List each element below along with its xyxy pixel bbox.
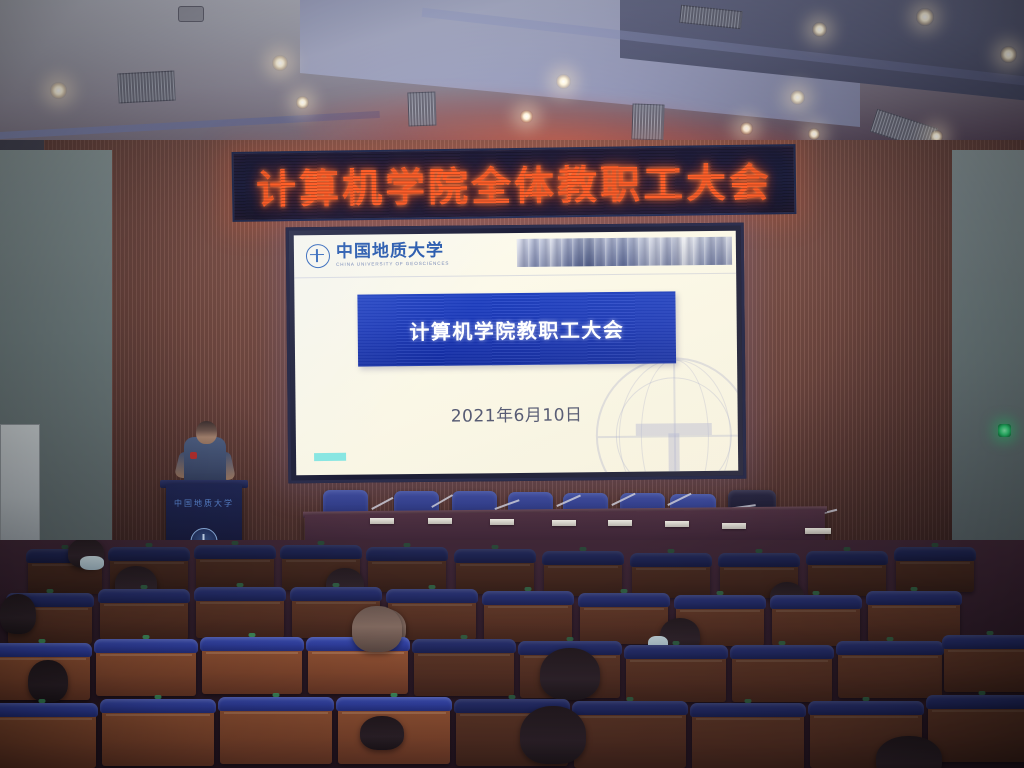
- seat-cushion-top: [630, 553, 712, 567]
- led-banner-text: 计算机学院全体教职工大会: [256, 150, 773, 215]
- podium-label: 中国地质大学: [166, 498, 242, 509]
- seat-rail: [578, 716, 682, 718]
- speaker-head: [196, 421, 217, 444]
- ceiling-speaker: [178, 6, 204, 22]
- seat-cushion-top: [336, 697, 452, 711]
- seat-cushion-top: [942, 635, 1024, 649]
- seat-cushion-top: [200, 637, 304, 651]
- seat-cushion-top: [280, 545, 362, 559]
- hvac-vent: [117, 71, 175, 104]
- seat: [692, 712, 804, 768]
- seat-cushion-top: [572, 701, 688, 715]
- seat: [484, 600, 572, 642]
- seat-cushion-top: [730, 645, 834, 659]
- seat-cushion-top: [482, 591, 574, 605]
- seat-rail: [696, 718, 800, 720]
- seat-cushion-top: [290, 587, 382, 601]
- seat: [220, 706, 332, 764]
- seat-rail: [736, 660, 828, 662]
- seat-cushion-top: [412, 639, 516, 653]
- seat-rail: [312, 652, 404, 654]
- seat: [96, 648, 196, 696]
- attendee-face-mask: [80, 556, 104, 570]
- seat: [896, 556, 974, 592]
- seat-cushion-top: [0, 703, 98, 717]
- slide-title-box: 计算机学院教职工大会: [357, 291, 676, 366]
- name-placard: [490, 519, 514, 525]
- seat: [102, 708, 214, 766]
- ceiling-downlight: [812, 22, 827, 37]
- campus-photo-strip: [517, 237, 732, 267]
- seat-rail: [200, 560, 270, 562]
- seat-cushion-top: [808, 701, 924, 715]
- ceiling-downlight: [790, 90, 805, 105]
- seat-cushion-top: [100, 699, 216, 713]
- seat-cushion-top: [194, 587, 286, 601]
- slide-header: 中国地质大学 CHINA UNIVERSITY OF GEOSCIENCES: [294, 231, 736, 279]
- seat-rail: [418, 654, 510, 656]
- slide-accent-chip: [314, 453, 346, 461]
- seat-cushion-top: [690, 703, 806, 717]
- seat-rail: [630, 660, 722, 662]
- seat: [202, 646, 302, 694]
- seat: [732, 654, 832, 702]
- seat-cushion-top: [770, 595, 862, 609]
- seat-cushion-top: [542, 551, 624, 565]
- name-placard: [608, 520, 632, 526]
- seat-cushion-top: [866, 591, 962, 605]
- seat-rail: [584, 608, 664, 610]
- seat-cushion-top: [218, 697, 334, 711]
- seat-rail: [636, 568, 706, 570]
- seat-cushion-top: [366, 547, 448, 561]
- seat: [196, 596, 284, 638]
- seat-cushion-top: [454, 549, 536, 563]
- seat-rail: [548, 566, 618, 568]
- led-banner: 计算机学院全体教职工大会: [232, 144, 797, 222]
- seat: [0, 712, 96, 768]
- seat-rail: [948, 650, 1024, 652]
- left-wall-whiteboard: [0, 424, 40, 546]
- seat-cushion-top: [578, 593, 670, 607]
- speaker-badge: [190, 452, 197, 459]
- seat-cushion-top: [894, 547, 976, 561]
- seat: [626, 654, 726, 702]
- ceiling-downlight: [1000, 46, 1017, 63]
- seat-rail: [296, 602, 376, 604]
- name-placard: [552, 520, 576, 526]
- seat-cushion-top: [108, 547, 190, 561]
- seat-rail: [872, 606, 956, 608]
- name-placard: [722, 523, 746, 529]
- seat-rail: [724, 568, 794, 570]
- seat-rail: [286, 560, 356, 562]
- seat: [574, 710, 686, 768]
- hvac-vent: [407, 92, 436, 127]
- attendee-head: [360, 716, 404, 750]
- seat: [100, 598, 188, 640]
- ceiling-downlight: [272, 55, 288, 71]
- university-name-en: CHINA UNIVERSITY OF GEOSCIENCES: [336, 262, 449, 268]
- hvac-vent: [631, 103, 664, 140]
- projection-screen: 中国地质大学 CHINA UNIVERSITY OF GEOSCIENCES 计…: [286, 223, 747, 484]
- attendee-head-bald: [352, 606, 402, 652]
- audience-seating: [0, 540, 1024, 768]
- university-name-block: 中国地质大学 CHINA UNIVERSITY OF GEOSCIENCES: [336, 243, 450, 268]
- name-placard: [805, 528, 831, 534]
- seat-rail: [200, 602, 280, 604]
- auditorium-photo: 计算机学院全体教职工大会 中国地质大学 CHINA UNIVERSITY OF …: [0, 0, 1024, 768]
- seat-rail: [206, 652, 298, 654]
- seat-cushion-top: [806, 551, 888, 565]
- seat-cushion-top: [624, 645, 728, 659]
- seat-rail: [342, 712, 446, 714]
- watermark-hammer: [636, 423, 712, 436]
- seat-rail: [372, 562, 442, 564]
- attendee-head: [28, 660, 68, 702]
- seat-cushion-top: [674, 595, 766, 609]
- attendee-head: [520, 706, 586, 764]
- right-wall-panel: [952, 150, 1024, 570]
- seat-cushion-top: [386, 589, 478, 603]
- seat-rail: [460, 564, 530, 566]
- seat: [196, 554, 274, 590]
- name-placard: [665, 521, 689, 527]
- ceiling-downlight: [50, 82, 67, 99]
- seat: [772, 604, 860, 646]
- ceiling-downlight: [808, 128, 820, 140]
- seat-rail: [900, 562, 970, 564]
- exit-light-icon: [998, 424, 1011, 437]
- university-name-cn: 中国地质大学: [336, 243, 449, 261]
- seat-cushion-top: [194, 545, 276, 559]
- presentation-slide: 中国地质大学 CHINA UNIVERSITY OF GEOSCIENCES 计…: [294, 231, 738, 476]
- seat-rail: [814, 716, 918, 718]
- seat-rail: [114, 562, 184, 564]
- seat-rail: [392, 604, 472, 606]
- seat-rail: [812, 566, 882, 568]
- slide-title-text: 计算机学院教职工大会: [409, 313, 624, 344]
- seat: [838, 650, 942, 698]
- seat-rail: [104, 604, 184, 606]
- seat: [944, 644, 1024, 692]
- cug-circle-logo-icon: [306, 244, 330, 268]
- ceiling-downlight: [740, 122, 753, 135]
- ceiling-downlight: [296, 96, 309, 109]
- seat-cushion-top: [836, 641, 944, 655]
- seat-rail: [776, 610, 856, 612]
- name-placard: [428, 518, 452, 524]
- seat-rail: [106, 714, 210, 716]
- ceiling-downlight: [556, 74, 571, 89]
- seat-cushion-top: [0, 643, 92, 657]
- seat-rail: [680, 610, 760, 612]
- ceiling-downlight: [520, 110, 533, 123]
- name-placard: [370, 518, 394, 524]
- seat-rail: [0, 718, 92, 720]
- seat-rail: [842, 656, 938, 658]
- seat-cushion-top: [718, 553, 800, 567]
- seat: [928, 704, 1024, 762]
- attendee-head: [0, 594, 36, 634]
- seat-cushion-top: [98, 589, 190, 603]
- ceiling-downlight: [916, 8, 934, 26]
- seat-rail: [224, 712, 328, 714]
- slide-date-text: 2021年6月10日: [296, 399, 738, 429]
- seat: [308, 646, 408, 694]
- seat-rail: [932, 710, 1024, 712]
- seat-rail: [100, 654, 192, 656]
- seat: [414, 648, 514, 696]
- attendee-head: [540, 648, 600, 700]
- seat-cushion-top: [94, 639, 198, 653]
- seat-rail: [488, 606, 568, 608]
- seat-cushion-top: [926, 695, 1024, 709]
